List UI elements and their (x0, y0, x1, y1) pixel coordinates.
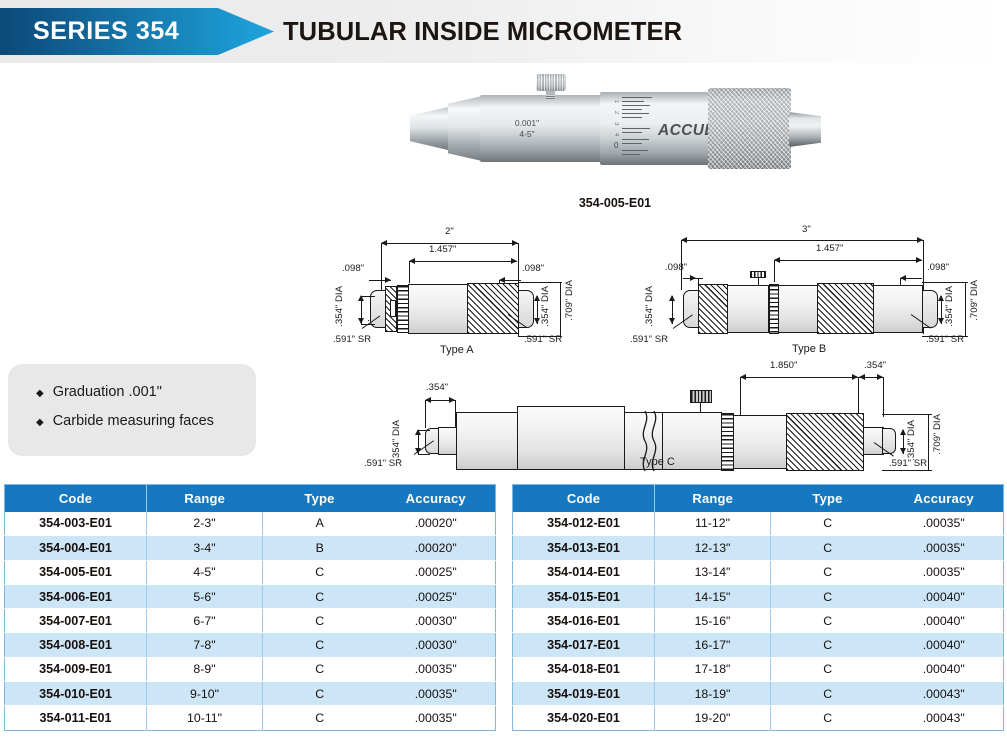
table-cell-acc: .00040" (885, 609, 1004, 633)
page-header: SERIES 354 TUBULAR INSIDE MICROMETER (0, 0, 1007, 63)
table-cell-type: C (771, 560, 885, 584)
table-cell-acc: .00025" (377, 584, 496, 608)
table-cell-code: 354-013-E01 (513, 536, 655, 560)
table-row[interactable]: 354-020-E0119-20"C.00043" (513, 706, 1004, 730)
page-title: TUBULAR INSIDE MICROMETER (283, 18, 682, 47)
datasheet-page: SERIES 354 TUBULAR INSIDE MICROMETER 0.0… (0, 0, 1007, 737)
table-cell-code: 354-009-E01 (5, 657, 147, 681)
scale-zero-label: 0 (614, 141, 618, 150)
table-row[interactable]: 354-016-E0115-16"C.00040" (513, 609, 1004, 633)
table-cell-type: C (771, 657, 885, 681)
type-b-label: Type B (792, 343, 826, 355)
table-cell-code: 354-012-E01 (513, 512, 655, 536)
table-row[interactable]: 354-003-E012-3"A.00020" (5, 512, 496, 536)
table-cell-range: 12-13" (655, 536, 771, 560)
type-a-left-collar (390, 300, 396, 317)
type-c-sr-left: .591" SR (364, 458, 402, 469)
table-cell-code: 354-015-E01 (513, 584, 655, 608)
type-c-rod-thick (517, 406, 625, 470)
graduation-marking: 0.001" (515, 118, 539, 128)
type-c-dia-right: .354" DIA (906, 420, 917, 461)
table-cell-acc: .00040" (885, 657, 1004, 681)
type-b-dim-overall: 3" (802, 224, 811, 235)
table-row[interactable]: 354-015-E0114-15"C.00040" (513, 584, 1004, 608)
column-header-range: Range (147, 485, 263, 512)
table-cell-range: 18-19" (655, 682, 771, 706)
type-b-thimble (817, 283, 874, 334)
table-cell-range: 17-18" (655, 657, 771, 681)
type-c-lock-nut-icon (690, 390, 712, 403)
column-header-accuracy: Accuracy (885, 485, 1004, 512)
type-b-left-knurl (698, 284, 728, 334)
table-cell-acc: .00035" (885, 560, 1004, 584)
taper-body (448, 96, 482, 161)
table-cell-code: 354-004-E01 (5, 536, 147, 560)
table-cell-type: C (263, 609, 377, 633)
table-cell-type: C (263, 657, 377, 681)
type-c-rod-1 (456, 412, 518, 470)
type-a-label: Type A (440, 344, 474, 356)
type-b-sr-left: .591" SR (630, 334, 668, 345)
table-cell-type: C (771, 536, 885, 560)
table-row[interactable]: 354-010-E019-10"C.00035" (5, 682, 496, 706)
type-b-dim-inner: 1.457" (816, 243, 843, 254)
table-cell-range: 13-14" (655, 560, 771, 584)
table-cell-range: 10-11" (147, 706, 263, 730)
table-row[interactable]: 354-013-E0112-13"C.00035" (513, 536, 1004, 560)
type-a-dim-right-end: .098" (522, 263, 544, 274)
type-b-dia-right: .354" DIA (944, 286, 955, 327)
type-c-sleeve (733, 415, 787, 469)
table-cell-code: 354-006-E01 (5, 584, 147, 608)
type-c-thimble (786, 413, 864, 471)
table-cell-acc: .00035" (885, 536, 1004, 560)
table-cell-type: C (771, 706, 885, 730)
table-cell-type: C (771, 682, 885, 706)
column-header-type: Type (263, 485, 377, 512)
table-cell-type: B (263, 536, 377, 560)
column-header-type: Type (771, 485, 885, 512)
feature-item: ◆ Graduation .001" (36, 384, 256, 400)
type-a-dia-right: .354" DIA (540, 286, 551, 327)
spec-table-right: Code Range Type Accuracy 354-012-E0111-1… (512, 484, 1004, 731)
table-cell-range: 5-6" (147, 584, 263, 608)
table-cell-range: 8-9" (147, 657, 263, 681)
table-cell-acc: .00035" (377, 682, 496, 706)
spec-table-left: Code Range Type Accuracy 354-003-E012-3"… (4, 484, 496, 731)
table-cell-acc: .00043" (885, 706, 1004, 730)
product-photo: 0.001" 4-5" 1 2 3 4 0 ACCUD (400, 66, 830, 186)
type-a-sr-right: .591" SR (524, 334, 562, 345)
table-cell-code: 354-008-E01 (5, 633, 147, 657)
range-marking: 4-5" (519, 129, 534, 139)
table-cell-acc: .00035" (885, 512, 1004, 536)
table-row[interactable]: 354-011-E0110-11"C.00035" (5, 706, 496, 730)
table-cell-acc: .00020" (377, 512, 496, 536)
table-cell-code: 354-010-E01 (5, 682, 147, 706)
series-label: SERIES 354 (0, 17, 179, 46)
table-cell-range: 9-10" (147, 682, 263, 706)
table-cell-code: 354-007-E01 (5, 609, 147, 633)
table-cell-code: 354-003-E01 (5, 512, 147, 536)
table-cell-acc: .00020" (377, 536, 496, 560)
table-cell-range: 19-20" (655, 706, 771, 730)
table-cell-code: 354-005-E01 (5, 560, 147, 584)
diagram-type-b: 3" 1.457" .098" .098" .354" DIA (628, 224, 998, 360)
column-header-range: Range (655, 485, 771, 512)
table-cell-code: 354-018-E01 (513, 657, 655, 681)
table-cell-type: C (263, 706, 377, 730)
type-a-dim-left-end: .098" (342, 263, 364, 274)
type-c-label: Type C (640, 456, 675, 468)
table-cell-acc: .00040" (885, 584, 1004, 608)
table-cell-acc: .00030" (377, 633, 496, 657)
type-c-dia-left: .354" DIA (391, 420, 402, 461)
type-a-thimble (467, 283, 519, 334)
type-b-dim-right-end: .098" (927, 262, 949, 273)
table-cell-type: C (263, 633, 377, 657)
table-header-row: Code Range Type Accuracy (5, 485, 496, 512)
table-cell-acc: .00040" (885, 633, 1004, 657)
table-cell-code: 354-019-E01 (513, 682, 655, 706)
table-cell-acc: .00025" (377, 560, 496, 584)
table-cell-range: 15-16" (655, 609, 771, 633)
body-markings: 0.001" 4-5" (504, 118, 550, 140)
diagram-type-a: 2" 1.457" .098" .098" .354" DIA (332, 224, 584, 360)
table-cell-acc: .00035" (377, 706, 496, 730)
measuring-anvil-icon (410, 106, 452, 151)
type-a-dim-overall: 2" (445, 226, 454, 237)
table-row[interactable]: 354-004-E013-4"B.00020" (5, 536, 496, 560)
knurled-thimble-icon (708, 88, 791, 169)
table-row[interactable]: 354-007-E016-7"C.00030" (5, 609, 496, 633)
diagram-type-c: 1.850" .354" .354" (336, 358, 1004, 474)
table-row[interactable]: 354-014-E0113-14"C.00035" (513, 560, 1004, 584)
column-header-code: Code (513, 485, 655, 512)
type-b-left-shaft (727, 285, 769, 333)
type-a-sleeve (408, 284, 468, 334)
table-row[interactable]: 354-006-E015-6"C.00025" (5, 584, 496, 608)
table-cell-type: A (263, 512, 377, 536)
table-cell-acc: .00043" (885, 682, 1004, 706)
type-b-sleeve (778, 285, 818, 333)
type-b-right-shaft (873, 285, 923, 333)
table-cell-type: C (771, 633, 885, 657)
table-cell-range: 6-7" (147, 609, 263, 633)
table-cell-code: 354-017-E01 (513, 633, 655, 657)
table-header-row: Code Range Type Accuracy (513, 485, 1004, 512)
table-row[interactable]: 354-018-E0117-18"C.00040" (513, 657, 1004, 681)
table-cell-type: C (263, 584, 377, 608)
table-row[interactable]: 354-019-E0118-19"C.00043" (513, 682, 1004, 706)
type-a-sr-left: .591" SR (333, 334, 371, 345)
table-cell-acc: .00035" (377, 657, 496, 681)
table-cell-code: 354-020-E01 (513, 706, 655, 730)
table-row[interactable]: 354-017-E0116-17"C.00040" (513, 633, 1004, 657)
diamond-bullet-icon: ◆ (36, 418, 44, 428)
type-b-dia-outer: .709" DIA (969, 280, 980, 321)
type-c-dim-right-end: .354" (864, 360, 886, 371)
features-box: ◆ Graduation .001" ◆ Carbide measuring f… (8, 364, 256, 456)
type-b-dia-left: .354" DIA (644, 286, 655, 327)
type-a-dia-left: .354" DIA (334, 286, 345, 327)
table-row[interactable]: 354-005-E014-5"C.00025" (5, 560, 496, 584)
table-cell-range: 11-12" (655, 512, 771, 536)
series-badge: SERIES 354 (0, 8, 274, 55)
lock-nut-icon (536, 74, 566, 91)
feature-text: Carbide measuring faces (53, 413, 214, 429)
column-header-accuracy: Accuracy (377, 485, 496, 512)
table-cell-type: C (771, 609, 885, 633)
type-a-dia-outer: .709" DIA (564, 280, 575, 321)
table-cell-range: 4-5" (147, 560, 263, 584)
diamond-bullet-icon: ◆ (36, 389, 44, 399)
table-cell-range: 14-15" (655, 584, 771, 608)
table-cell-code: 354-014-E01 (513, 560, 655, 584)
table-row[interactable]: 354-008-E017-8"C.00030" (5, 633, 496, 657)
table-cell-code: 354-011-E01 (5, 706, 147, 730)
type-b-sr-right: .591" SR (926, 334, 964, 345)
table-cell-type: C (263, 560, 377, 584)
lock-stem (546, 90, 555, 99)
type-c-sr-right: .591" SR (889, 458, 927, 469)
type-c-dim-inner: 1.850" (770, 360, 797, 371)
photo-caption: 354-005-E01 (400, 196, 830, 210)
table-cell-range: 3-4" (147, 536, 263, 560)
table-cell-range: 2-3" (147, 512, 263, 536)
feature-text: Graduation .001" (53, 384, 162, 400)
table-row[interactable]: 354-009-E018-9"C.00035" (5, 657, 496, 681)
extension-tip (789, 112, 821, 147)
table-cell-type: C (263, 682, 377, 706)
table-cell-acc: .00030" (377, 609, 496, 633)
feature-item: ◆ Carbide measuring faces (36, 413, 256, 429)
table-cell-code: 354-016-E01 (513, 609, 655, 633)
column-header-code: Code (5, 485, 147, 512)
type-a-dim-inner: 1.457" (429, 244, 456, 255)
type-c-left-stub (438, 427, 457, 455)
table-cell-type: C (771, 584, 885, 608)
type-b-dim-left-end: .098" (665, 262, 687, 273)
type-c-dim-left-end: .354" (426, 382, 448, 393)
table-cell-range: 16-17" (655, 633, 771, 657)
table-cell-type: C (771, 512, 885, 536)
table-cell-range: 7-8" (147, 633, 263, 657)
type-b-left-anvil (683, 290, 699, 328)
table-row[interactable]: 354-012-E0111-12"C.00035" (513, 512, 1004, 536)
type-b-lock-nut-icon (750, 271, 766, 278)
micrometer-illustration: 0.001" 4-5" 1 2 3 4 0 ACCUD (400, 66, 830, 186)
type-c-dia-outer: .709" DIA (932, 414, 943, 455)
